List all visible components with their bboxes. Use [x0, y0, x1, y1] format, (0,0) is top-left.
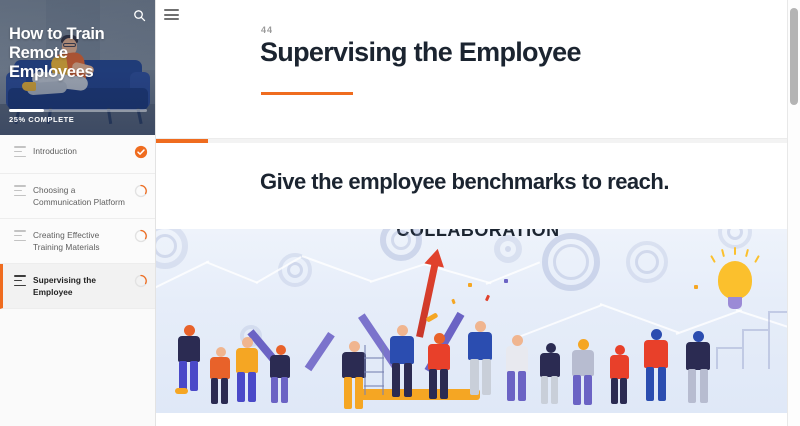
search-icon[interactable] [130, 6, 148, 24]
course-player-window: How to Train Remote Employees 25% COMPLE… [0, 0, 800, 426]
section-heading: Give the employee benchmarks to reach. [260, 167, 752, 196]
sidebar-item-label: Supervising the Employee [33, 274, 134, 298]
title-underline-accent [261, 92, 353, 95]
lesson-content-area: 44 Supervising the Employee Give the emp… [156, 0, 800, 426]
lesson-lines-icon [14, 275, 26, 286]
check-circle-icon [134, 145, 148, 159]
hamburger-menu-icon[interactable] [164, 7, 181, 22]
lesson-header: 44 Supervising the Employee [156, 0, 800, 139]
sidebar-item-creating-effective-training-materials[interactable]: Creating Effective Training Materials [0, 219, 156, 264]
sidebar-item-label: Creating Effective Training Materials [33, 229, 134, 253]
lesson-lines-icon [14, 146, 26, 157]
course-sidebar: How to Train Remote Employees 25% COMPLE… [0, 0, 156, 426]
progress-ring-icon [134, 229, 148, 243]
course-title: How to Train Remote Employees [9, 25, 146, 82]
lesson-lines-icon [14, 230, 26, 241]
course-progress-fill [9, 109, 44, 112]
sidebar-item-label: Choosing a Communication Platform [33, 184, 134, 208]
sidebar-item-choosing-a-communication-platform[interactable]: Choosing a Communication Platform [0, 174, 156, 219]
team-collaboration-illustration: COLLABORATION [156, 229, 800, 413]
progress-ring-icon [134, 184, 148, 198]
lesson-section: Give the employee benchmarks to reach. [156, 143, 800, 229]
sidebar-item-supervising-the-employee[interactable]: Supervising the Employee [0, 264, 156, 309]
course-progress-label: 25% COMPLETE [9, 115, 74, 124]
title-eyebrow: 44 [261, 26, 273, 35]
vertical-scrollbar[interactable] [787, 0, 800, 426]
lesson-list: Introduction Choosing a Communication Pl… [0, 135, 156, 309]
progress-ring-icon [134, 274, 148, 288]
scrollbar-thumb[interactable] [790, 8, 798, 105]
sidebar-item-label: Introduction [33, 145, 134, 157]
lesson-lines-icon [14, 185, 26, 196]
sidebar-item-introduction[interactable]: Introduction [0, 135, 156, 174]
course-progress-bar [9, 109, 147, 112]
course-hero-card: How to Train Remote Employees 25% COMPLE… [0, 0, 156, 135]
page-title: Supervising the Employee [260, 38, 581, 68]
